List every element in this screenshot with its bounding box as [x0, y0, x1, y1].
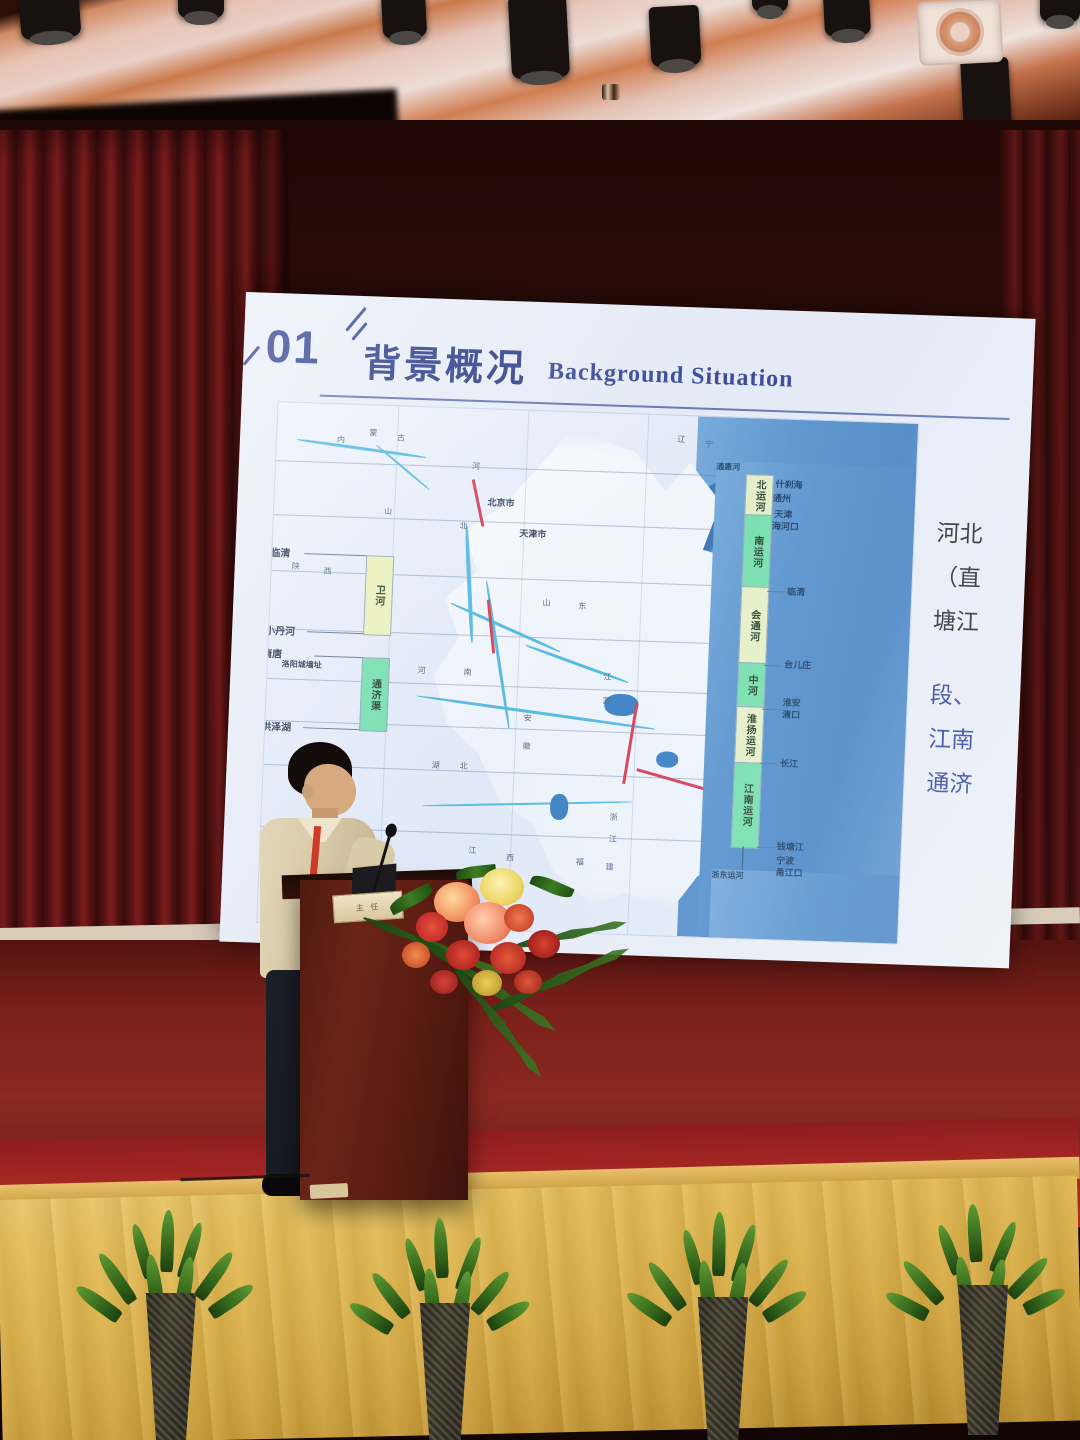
green-leaf-2 — [529, 872, 574, 902]
potted-plant-4 — [908, 1200, 1058, 1435]
canal-section-jiangnan-label: 江南运河 — [738, 783, 755, 827]
side-text-line-1: 河北 — [936, 512, 1036, 560]
map-left-label-luoyang: 洛阳城墙址 — [282, 658, 322, 670]
river-yellow — [297, 438, 426, 459]
rose-8 — [430, 970, 458, 994]
side-text-line-3: 塘江 — [932, 600, 1035, 648]
rose-2 — [504, 904, 534, 932]
map-label-province-16: 山 — [384, 506, 392, 517]
leader-line-linqing — [304, 553, 366, 556]
map-label-province-7: 安 — [524, 713, 532, 724]
rose-4 — [490, 942, 526, 974]
map-label-province-3: 山 — [542, 597, 550, 608]
lily-2 — [480, 868, 524, 906]
map-label-province-19: 西 — [323, 566, 331, 577]
map-label-zhedong: 浙东运河 — [690, 869, 919, 944]
canal-bar-tongjiqu: 通济渠 — [359, 657, 390, 732]
rose-3 — [446, 940, 480, 970]
plant-leaf — [160, 1210, 175, 1272]
lake-taihu — [656, 751, 679, 768]
stage-light-5 — [648, 5, 701, 68]
canal-section-jiangnan: 江南运河 — [731, 762, 763, 849]
canal-section-nanyunhe-label: 南运河 — [749, 535, 765, 568]
map-right-label-qiantangjiang: 钱塘江 — [776, 839, 804, 853]
canal-bar-tongjiqu-label: 通济渠 — [366, 678, 382, 711]
map-label-province-6: 南 — [463, 667, 471, 678]
map-label-province-1: 河 — [472, 461, 480, 472]
map-label-province-9: 江 — [603, 671, 611, 682]
slide-title-cn: 背景概况 — [362, 332, 528, 393]
stage-light-9 — [1040, 0, 1080, 22]
map-right-label-taierzhuang: 台儿庄 — [784, 658, 812, 672]
map-right-label-haihekou: 海河口 — [772, 519, 800, 533]
canal-section-nanyunhe: 南运河 — [741, 514, 772, 589]
map-label-province-27: 宁 — [705, 439, 713, 450]
stage-light-1 — [19, 0, 82, 40]
map-left-label-xiaodanhe: 小丹河 — [265, 622, 296, 638]
canal-route-north — [472, 479, 485, 527]
green-leaf-1 — [387, 883, 434, 916]
map-left-label-linqing: 临清 — [270, 544, 291, 560]
leader-line-suitang — [314, 656, 362, 659]
map-label-tianjin: 天津市 — [519, 526, 547, 540]
map-right-label-tongzhou: 通州 — [773, 491, 792, 505]
map-right-label-linqing: 临清 — [787, 585, 806, 599]
map-right-label-shichahai: 什刹海 — [775, 477, 803, 491]
speaker-ear — [302, 784, 313, 799]
potted-plant-1 — [96, 1208, 246, 1440]
podium-nameplate-text: 主 任 — [355, 901, 380, 914]
map-right-label-yongjiangkou: 甬江口 — [775, 865, 803, 879]
map-label-province-15: 古 — [397, 432, 405, 443]
side-text-line-2: （直 — [934, 556, 1036, 604]
potted-plant-2 — [370, 1218, 520, 1440]
flower-arrangement — [380, 846, 610, 1046]
map-left-label-suitang: 隋唐 — [262, 645, 283, 661]
stage-light-3 — [381, 0, 427, 39]
rose-5 — [528, 930, 560, 958]
potted-plant-3 — [648, 1212, 798, 1440]
air-vent-icon — [916, 0, 1003, 66]
map-label-province-13: 内 — [337, 434, 345, 445]
stage-light-7 — [823, 0, 871, 37]
map-label-province-14: 蒙 — [369, 427, 377, 438]
map-label-province-10: 苏 — [602, 695, 610, 706]
canal-bar-weihe: 卫河 — [363, 555, 394, 636]
rose-7 — [472, 970, 502, 996]
stage-light-6 — [752, 0, 788, 12]
map-label-province-26: 辽 — [677, 434, 685, 445]
rose-9 — [514, 970, 542, 994]
plant-leaf — [712, 1212, 726, 1276]
canal-section-zhonghe-label: 中河 — [743, 674, 759, 696]
canal-section-huaiyang: 淮扬运河 — [734, 706, 764, 765]
decor-slash-3 — [242, 346, 260, 366]
map-label-province-8: 徽 — [522, 741, 530, 752]
stage-light-2 — [178, 0, 224, 18]
map-label-province-18: 陕 — [292, 561, 300, 572]
map-right-label-qingkou: 清口 — [782, 707, 801, 721]
canal-section-huaiyang-label: 淮扬运河 — [741, 713, 758, 757]
photograph-scene: 01 背景概况 Background Situation — [0, 0, 1080, 1440]
map-label-province-12: 江 — [609, 834, 617, 845]
map-label-province-20: 湖 — [432, 760, 440, 771]
map-left-label-hongzehu: 洪泽湖 — [261, 718, 292, 734]
floor-block — [310, 1183, 349, 1199]
map-label-beijing: 北京市 — [487, 495, 515, 509]
canal-section-tonghuihe: 北运河 — [744, 474, 774, 517]
map-label-province-11: 浙 — [610, 812, 618, 823]
map-label-province-5: 河 — [417, 665, 425, 676]
map-label-province-2: 北 — [459, 520, 467, 531]
plant-leaf — [966, 1204, 983, 1263]
slide-number: 01 — [265, 319, 322, 375]
rose-6 — [402, 942, 430, 968]
map-label-province-4: 东 — [578, 600, 586, 611]
small-indicator-light — [602, 84, 620, 100]
map-label-province-21: 北 — [460, 761, 468, 772]
canal-section-huitonghe-label: 会通河 — [746, 609, 762, 642]
plant-leaf — [433, 1218, 449, 1279]
canal-section-tonghuihe-label: 北运河 — [751, 479, 767, 512]
canal-section-zhonghe: 中河 — [736, 662, 766, 709]
river-branch — [376, 444, 431, 490]
canal-section-huitonghe: 会通河 — [738, 586, 769, 665]
stage-light-4 — [508, 0, 570, 79]
slide-side-text: 河北 （直 塘江 — [932, 512, 1035, 648]
rose-1 — [416, 912, 448, 942]
map-right-label-changjiang: 长江 — [780, 756, 799, 770]
leader-line-hongzehu — [303, 727, 359, 730]
slide-title-en: Background Situation — [547, 358, 794, 393]
canal-bar-weihe-label: 卫河 — [371, 584, 387, 606]
